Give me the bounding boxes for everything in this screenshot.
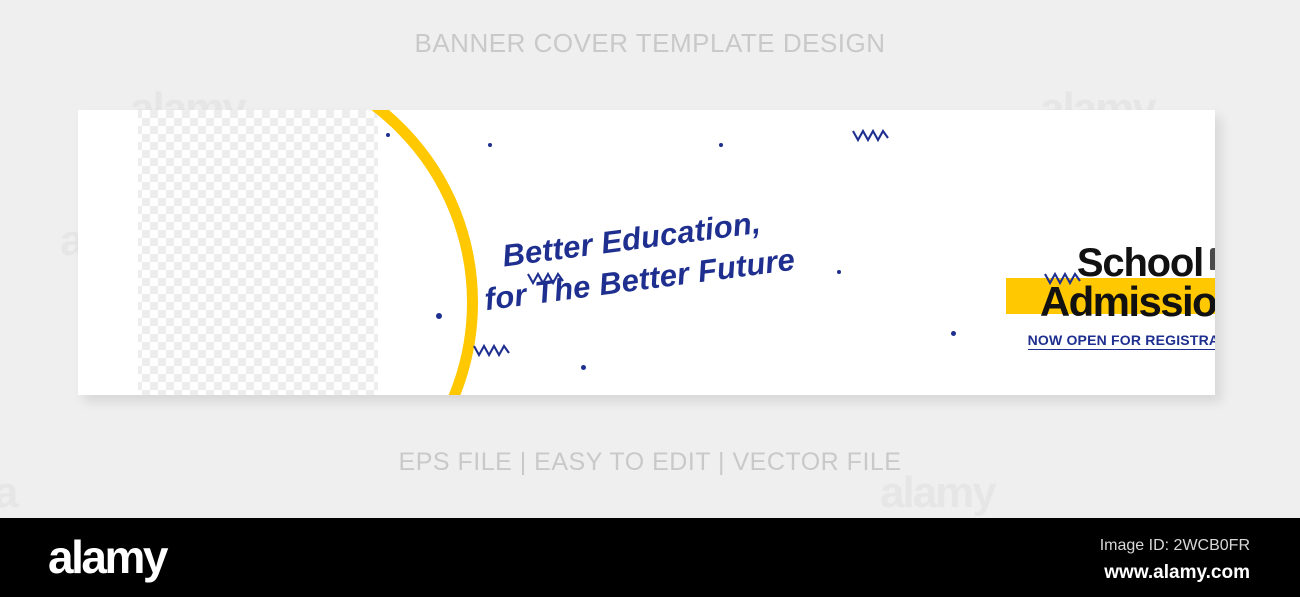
admission-subtitle: NOW OPEN FOR REGISTRATION [1028,332,1215,350]
banner-artboard: Better Education, for The Better Future … [78,110,1215,395]
zigzag-decoration [1044,272,1082,285]
dot-decoration [488,143,492,147]
alamy-logo: alamy [48,534,166,580]
banner-headline: Better Education, for The Better Future [438,195,830,326]
admission-title-line-2: Admission [1006,282,1215,322]
dot-decoration [719,143,723,147]
zigzag-decoration [527,272,565,285]
admission-block: School Admission NOW OPEN FOR REGISTRATI… [1006,244,1215,350]
zigzag-decoration [852,129,890,142]
dot-decoration [837,270,841,274]
image-id-label: Image ID: 2WCB0FR [1100,537,1250,555]
alamy-footer-bar: alamy Image ID: 2WCB0FR www.alamy.com [0,518,1300,597]
pencil-icon [1210,248,1215,270]
dot-decoration [581,365,586,370]
admission-title-line-1: School [1006,244,1215,282]
top-caption: BANNER COVER TEMPLATE DESIGN [0,28,1300,59]
alamy-url[interactable]: www.alamy.com [1104,562,1250,584]
yellow-arc-decoration [78,110,478,395]
dot-decoration [386,133,390,137]
bottom-caption: EPS FILE | EASY TO EDIT | VECTOR FILE [0,448,1300,477]
zigzag-decoration [473,344,511,357]
arc-clip-mask [78,110,138,395]
dot-decoration [436,313,442,319]
dot-decoration [951,331,956,336]
